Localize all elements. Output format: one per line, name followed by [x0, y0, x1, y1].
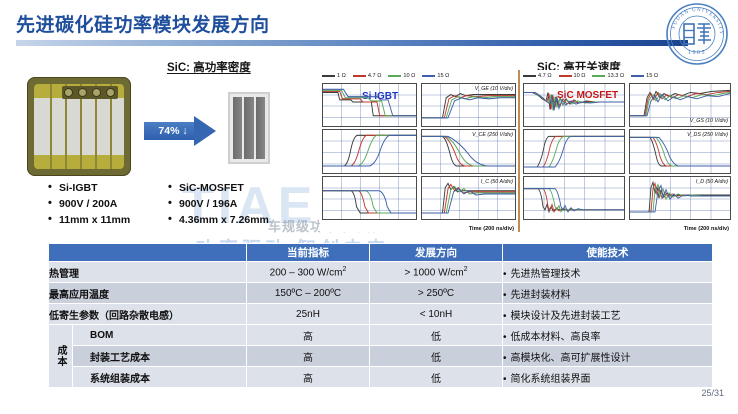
- legend-label: 1 Ω: [337, 73, 346, 79]
- plot-vge-turnoff: [322, 83, 417, 127]
- legend-label: 4.7 Ω: [538, 73, 552, 79]
- cell-technology: •低成本材料、高良率: [503, 325, 713, 346]
- plot-vgs-turnon: V_GS (10 V/div): [629, 83, 731, 127]
- col-header-current: 当前指标: [247, 244, 370, 262]
- legend-label: 10 Ω: [574, 73, 586, 79]
- list-item: Si-IGBT: [48, 180, 130, 196]
- page-number: 25/31: [701, 388, 724, 398]
- axis-label-ic: I_C (50 A/div): [481, 179, 513, 185]
- slide-root: 先进碳化硅功率模块发展方向 FUDAN UNIVERSITY 1905 SiC:…: [0, 0, 738, 414]
- cell-technology: •模块设计及先进封装工艺: [503, 304, 713, 325]
- axis-label-vce: V_CE (250 V/div): [472, 132, 513, 138]
- axis-label-time: Time (200 ns/div): [684, 226, 729, 232]
- legend-sic-mosfet: 4.7 Ω 10 Ω 13.3 Ω 15 Ω: [523, 70, 731, 82]
- sic-mosfet-die-photo: [228, 92, 270, 164]
- section-subhead-power-density: SiC: 高功率密度: [167, 59, 251, 75]
- plot-id-turnon: I_D (50 A/div): [629, 176, 731, 220]
- svg-text:1905: 1905: [688, 50, 706, 56]
- row-label: BOM: [73, 325, 247, 346]
- si-igbt-spec-list: Si-IGBT 900V / 200A 11mm x 11mm: [48, 180, 130, 228]
- axis-label-vgs: V_GS (10 V/div): [690, 118, 728, 124]
- si-igbt-waveform-figure: 1 Ω 4.7 Ω 10 Ω 15 Ω Si IGBT: [320, 70, 516, 232]
- legend-label: 13.3 Ω: [607, 73, 624, 79]
- plot-vce-turnoff: [322, 129, 417, 173]
- axis-label-vds: V_DS (250 V/div): [687, 132, 728, 138]
- shrink-percentage-label: 74% ↓: [149, 123, 197, 139]
- axis-label-id: I_D (50 A/div): [696, 179, 728, 185]
- axis-label-vge: V_GE (10 V/div): [475, 86, 513, 92]
- table-row: 低寄生参数（回路杂散电感） 25nH < 10nH •模块设计及先进封装工艺: [49, 304, 713, 325]
- roadmap-table: 当前指标 发展方向 使能技术 热管理 200 – 300 W/cm2 > 100…: [48, 243, 713, 388]
- cell-direction: 低: [370, 367, 503, 388]
- table-row: 最高应用温度 150ºC – 200ºC > 250ºC •先进封装材料: [49, 283, 713, 304]
- table-row: 热管理 200 – 300 W/cm2 > 1000 W/cm2 •先进热管理技…: [49, 262, 713, 283]
- figure-divider: [518, 70, 520, 232]
- cell-direction: 低: [370, 325, 503, 346]
- fudan-university-logo-icon: FUDAN UNIVERSITY 1905: [664, 1, 730, 67]
- sic-mosfet-waveform-figure: 4.7 Ω 10 Ω 13.3 Ω 15 Ω SiC MOSFET: [521, 70, 731, 232]
- table-header-row: 当前指标 发展方向 使能技术: [49, 244, 713, 262]
- shrink-arrow: 74% ↓: [144, 116, 216, 146]
- plot-ic-turnon: I_C (50 A/div): [421, 176, 516, 220]
- list-item: 900V / 196A: [168, 196, 269, 212]
- cell-current: 150ºC – 200ºC: [247, 283, 370, 304]
- col-header-metric: [49, 244, 247, 262]
- list-item: 900V / 200A: [48, 196, 130, 212]
- title-divider: [16, 40, 688, 46]
- page-title: 先进碳化硅功率模块发展方向: [16, 10, 270, 37]
- cell-current: 高: [247, 367, 370, 388]
- legend-label: 4.7 Ω: [368, 73, 382, 79]
- row-label: 低寄生参数（回路杂散电感）: [49, 304, 247, 325]
- cell-direction: < 10nH: [370, 304, 503, 325]
- sic-mosfet-spec-list: SiC-MOSFET 900V / 196A 4.36mm x 7.26mm: [168, 180, 269, 228]
- si-igbt-die-photo: [27, 77, 131, 176]
- plot-vds-turnoff: [523, 129, 625, 173]
- cell-current: 200 – 300 W/cm2: [247, 262, 370, 283]
- cell-current: 高: [247, 325, 370, 346]
- cell-direction: 低: [370, 346, 503, 367]
- legend-label: 10 Ω: [403, 73, 415, 79]
- cell-direction: > 1000 W/cm2: [370, 262, 503, 283]
- table-row: 成本 BOM 高 低 •低成本材料、高良率: [49, 325, 713, 346]
- plot-vds-turnon: V_DS (250 V/div): [629, 129, 731, 173]
- row-label: 最高应用温度: [49, 283, 247, 304]
- row-label: 系统组装成本: [73, 367, 247, 388]
- cell-technology: •高模块化、高可扩展性设计: [503, 346, 713, 367]
- axis-label-time: Time (200 ns/div): [469, 226, 514, 232]
- legend-label: 15 Ω: [646, 73, 658, 79]
- plot-ic-turnoff: [322, 176, 417, 220]
- list-item: 11mm x 11mm: [48, 212, 130, 228]
- legend-label: 15 Ω: [437, 73, 449, 79]
- table-row: 系统组装成本 高 低 •简化系统组装界面: [49, 367, 713, 388]
- plot-vgs-turnoff: [523, 83, 625, 127]
- table-row: 封装工艺成本 高 低 •高模块化、高可扩展性设计: [49, 346, 713, 367]
- cell-technology: •先进热管理技术: [503, 262, 713, 283]
- plot-id-turnoff: [523, 176, 625, 220]
- cell-technology: •先进封装材料: [503, 283, 713, 304]
- cell-direction: > 250ºC: [370, 283, 503, 304]
- plot-vce-turnon: V_CE (250 V/div): [421, 129, 516, 173]
- cell-current: 25nH: [247, 304, 370, 325]
- list-item: 4.36mm x 7.26mm: [168, 212, 269, 228]
- col-header-technology: 使能技术: [503, 244, 713, 262]
- cell-technology: •简化系统组装界面: [503, 367, 713, 388]
- list-item: SiC-MOSFET: [168, 180, 269, 196]
- row-group-label-cost: 成本: [49, 325, 73, 388]
- legend-si-igbt: 1 Ω 4.7 Ω 10 Ω 15 Ω: [322, 70, 516, 82]
- row-label: 封装工艺成本: [73, 346, 247, 367]
- plot-vge-turnon: V_GE (10 V/div): [421, 83, 516, 127]
- cell-current: 高: [247, 346, 370, 367]
- col-header-direction: 发展方向: [370, 244, 503, 262]
- row-label: 热管理: [49, 262, 247, 283]
